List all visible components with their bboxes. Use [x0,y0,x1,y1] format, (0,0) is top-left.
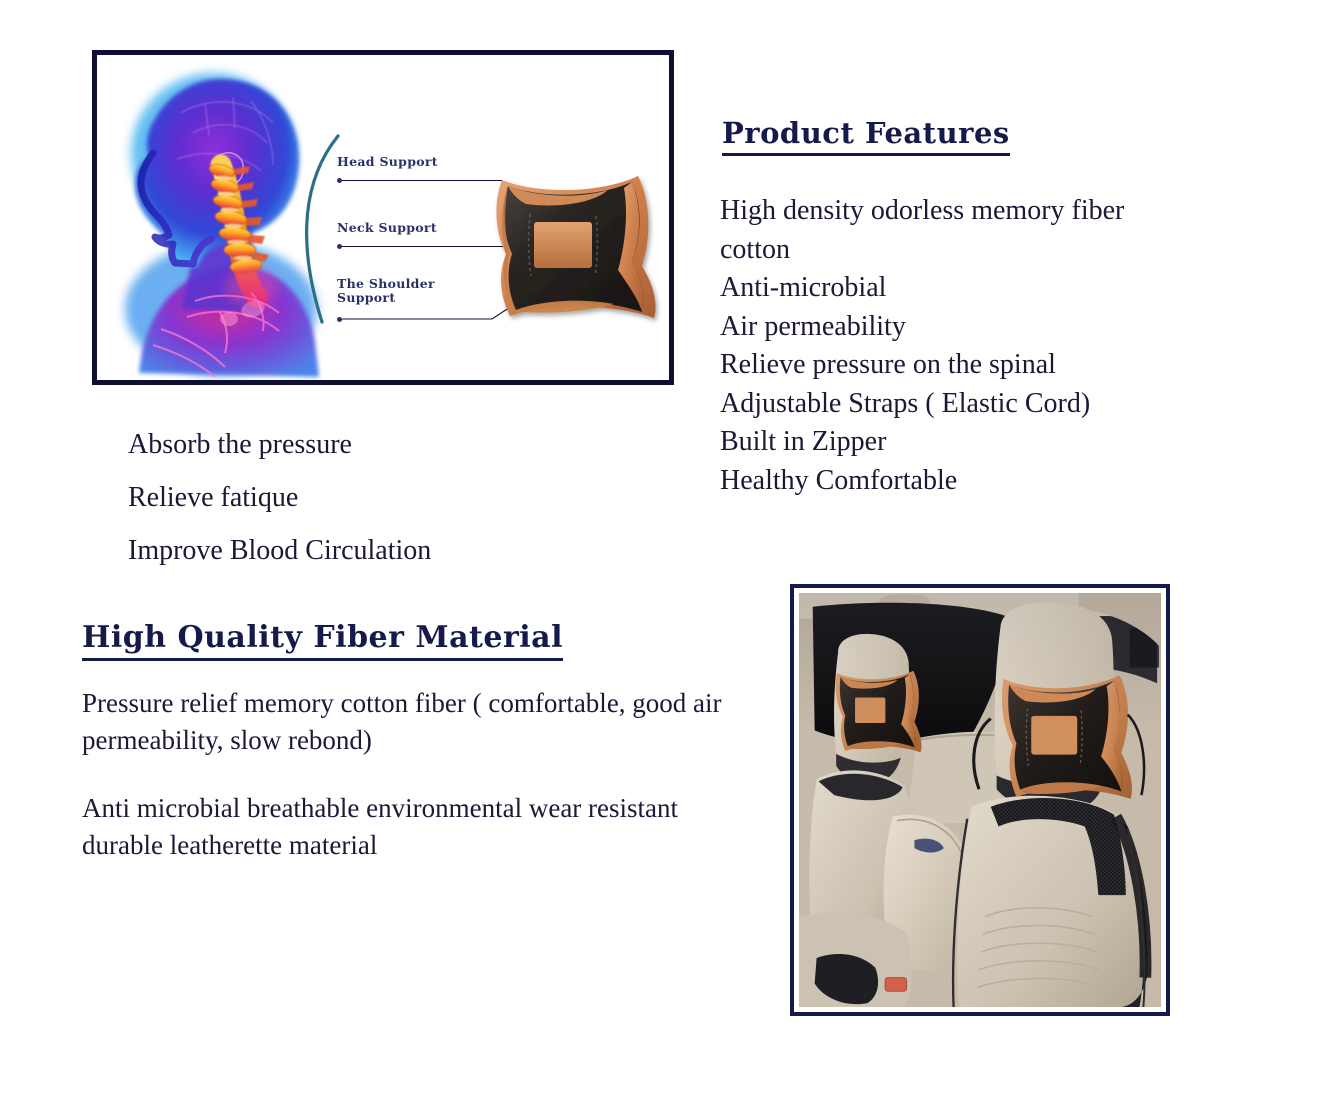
benefit-item: Improve Blood Circulation [128,524,668,577]
product-feature-item: Air permeability [720,308,1300,347]
car-interior-photo [799,593,1161,1007]
product-features-list: High density odorless memory fiber cotto… [720,192,1300,500]
car-interior-photo-art [799,593,1161,1007]
benefit-item: Absorb the pressure [128,418,668,471]
product-feature-item: Anti-microbial [720,269,1300,308]
product-feature-item: Adjustable Straps ( Elastic Cord) [720,385,1300,424]
benefit-item: Relieve fatique [128,471,668,524]
anatomy-figure: Head Support Neck Support The Shoulder S… [92,50,674,385]
neck-pillow-illustration [482,170,672,325]
fiber-material-paragraph: Anti microbial breathable environmental … [82,790,742,863]
anatomy-figure-canvas: Head Support Neck Support The Shoulder S… [97,55,669,380]
product-feature-item: High density odorless memory fiber [720,192,1300,231]
product-feature-item: Healthy Comfortable [720,462,1300,501]
product-features-heading-text: Product Features [722,116,1010,156]
product-feature-item: Relieve pressure on the spinal [720,346,1300,385]
callout-neck-support-label: Neck Support [337,221,437,235]
car-interior-photo-frame [790,584,1170,1016]
product-feature-item: cotton [720,231,1300,270]
callout-head-support-label: Head Support [337,155,438,169]
product-feature-item: Built in Zipper [720,423,1300,462]
fiber-material-heading: High Quality Fiber Material [82,620,563,661]
fiber-material-paragraph: Pressure relief memory cotton fiber ( co… [82,685,742,758]
callout-head-support-leader [342,180,502,181]
fiber-material-heading-text: High Quality Fiber Material [82,620,563,661]
benefits-list: Absorb the pressure Relieve fatique Impr… [128,418,668,577]
fiber-material-body: Pressure relief memory cotton fiber ( co… [82,685,742,864]
product-features-heading: Product Features [722,116,1010,156]
